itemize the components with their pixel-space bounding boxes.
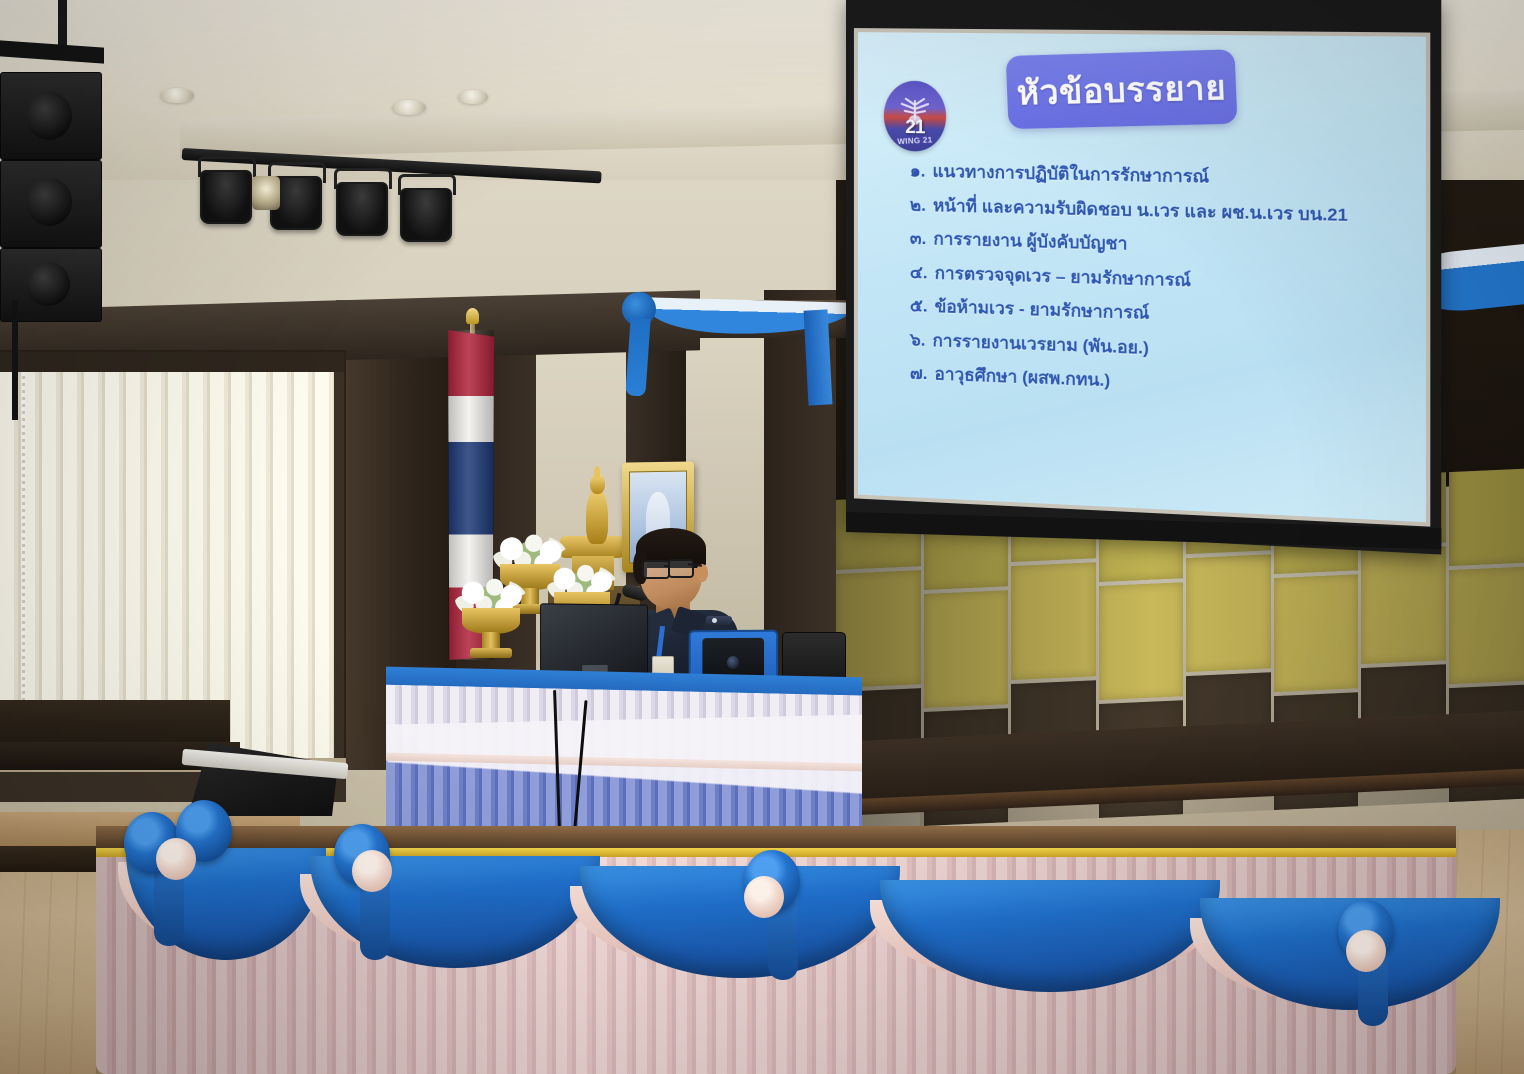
acoustic-panel [1011,562,1096,680]
slide-bullet-5: ๕.ข้อห้ามเวร - ยามรักษาการณ์ [910,296,1402,332]
acoustic-panel [1186,554,1271,672]
par-can-stage-light [200,170,252,224]
speaker-driver-icon [26,262,70,306]
slide-bullet-6: ๖.การรายงานเวรยาม (พัน.อย.) [910,330,1402,367]
flag-finial [466,308,479,324]
slide-bullet-number: ๓. [910,229,926,249]
slide-title-text: หัวข้อบรรยาย [1016,59,1228,119]
acoustic-panel [1099,582,1184,700]
par-can-stage-light [336,182,388,236]
slide-bullet-text: อาวุธศึกษา (ผสพ.กทน.) [935,365,1111,391]
fabric-swag-tail [804,309,833,405]
tablet-stand-knob [727,656,739,669]
blind-pull-chain[interactable] [22,372,25,702]
slide-bullet-number: ๗. [910,364,928,384]
ceiling-spot-light [252,176,280,210]
fabric-rosette-pink [156,838,196,880]
acoustic-panel [1449,468,1524,566]
buddha-flame-finial [594,466,600,478]
glasses-icon [642,560,670,579]
slide-bullet-text: การรายงาน ผู้บังคับบัญชา [933,229,1127,253]
recessed-downlight [160,88,194,103]
speaker-driver-icon [26,92,72,140]
gold-bowl [462,608,520,634]
acoustic-panel [1361,546,1446,664]
slide-bullet-text: แนวทางการปฏิบัติในการรักษาการณ์ [933,162,1210,187]
par-can-stage-light [400,188,452,242]
recessed-downlight [458,90,488,104]
gold-bowl-foot [470,648,512,658]
slide-bullet-text: หน้าที่ และความรับผิดชอบ น.เวร และ ผช.น.… [933,195,1348,224]
fabric-rosette-pink [352,850,392,892]
slide-bullet-list: ๑.แนวทางการปฏิบัติในการรักษาการณ์๒.หน้าท… [910,161,1402,417]
emblem-word: WING 21 [884,135,946,147]
acoustic-panel [1449,566,1524,684]
speaker-driver-icon [26,178,72,226]
speaker-support-pole [12,300,18,420]
slide-bullet-text: การตรวจจุดเวร – ยามรักษาการณ์ [935,263,1191,290]
projection-screen-surface: 21 WING 21 หัวข้อบรรยาย ๑.แนวทางการปฏิบั… [854,28,1430,527]
acoustic-panel [924,590,1009,708]
slide-bullet-3: ๓.การรายงาน ผู้บังคับบัญชา [910,229,1402,262]
slide-bullet-4: ๔.การตรวจจุดเวร – ยามรักษาการณ์ [910,262,1402,296]
acoustic-panel [1274,574,1359,692]
slide-bullet-number: ๖. [910,330,926,350]
glasses-bridge [664,565,670,567]
slide-bullet-number: ๕. [910,296,928,316]
slide-bullet-number: ๒. [910,195,926,214]
glasses-icon [668,559,694,578]
wing-21-squadron-emblem: 21 WING 21 [884,80,946,151]
fabric-rosette-pink [1346,930,1386,972]
stage-edge-wood [96,826,1456,850]
slide-title-banner: หัวข้อบรรยาย [1006,49,1238,129]
recessed-downlight [392,100,426,115]
slide-bullet-1: ๑.แนวทางการปฏิบัติในการรักษาการณ์ [910,161,1402,191]
pa-speaker-stack [0,20,104,340]
blind-headrail [0,352,344,372]
rank-pip-icon [712,618,717,623]
slide-bullet-2: ๒.หน้าที่ และความรับผิดชอบ น.เวร และ ผช.… [910,195,1402,226]
presentation-slide: 21 WING 21 หัวข้อบรรยาย ๑.แนวทางการปฏิบั… [858,32,1426,522]
flower-offering-bowl [462,604,520,634]
slide-bullet-number: ๑. [910,161,926,180]
slide-bullet-text: ข้อห้ามเวร - ยามรักษาการณ์ [935,297,1150,323]
fabric-rosette-pink [744,876,784,918]
slide-bullet-text: การรายงานเวรยาม (พัน.อย.) [933,331,1149,358]
uniform-epaulette [706,616,732,625]
screenshot-root: 21 WING 21 หัวข้อบรรยาย ๑.แนวทางการปฏิบั… [0,0,1524,1074]
projection-screen[interactable]: 21 WING 21 หัวข้อบรรยาย ๑.แนวทางการปฏิบั… [846,0,1441,555]
acoustic-panel [836,570,921,688]
slide-bullet-7: ๗.อาวุธศึกษา (ผสพ.กทน.) [910,364,1402,403]
presenter-ear [696,564,708,582]
slide-bullet-number: ๔. [910,262,928,282]
